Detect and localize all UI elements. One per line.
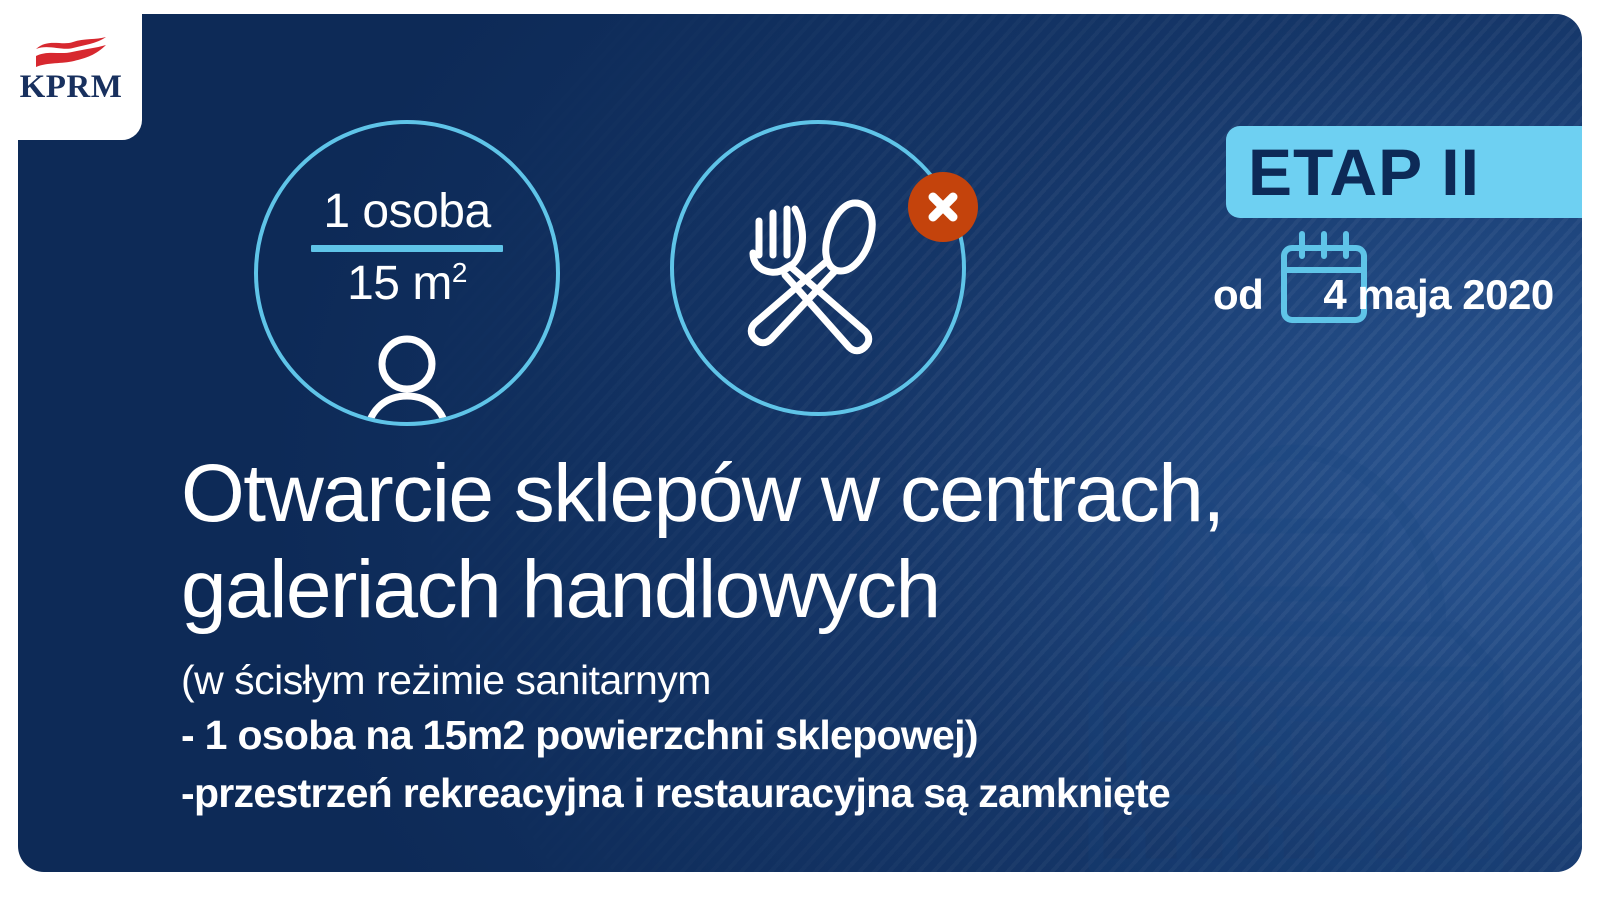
date-value: 4 maja 2020 — [1323, 271, 1553, 318]
text-block: Otwarcie sklepów w centrach, galeriach h… — [181, 446, 1521, 822]
infographic-stage: 1 osoba 15 m2 — [0, 0, 1600, 900]
ratio-stack: 1 osoba 15 m2 — [258, 188, 556, 308]
ratio-numerator: 1 osoba — [323, 188, 490, 238]
occupancy-ratio-circle: 1 osoba 15 m2 — [254, 120, 560, 426]
kprm-logo-panel: KPRM — [0, 0, 142, 140]
detail-line-2: - 1 osoba na 15m2 powierzchni sklepowej) — [181, 706, 1521, 764]
headline-line-1: Otwarcie sklepów w centrach, — [181, 446, 1521, 542]
kprm-logo-wordmark: KPRM — [20, 71, 123, 104]
stage-banner: ETAP II — [1226, 126, 1582, 218]
close-x-badge — [908, 172, 978, 242]
restaurant-closed-circle — [670, 120, 966, 416]
stage-banner-label: ETAP II — [1226, 139, 1480, 205]
fork-and-spoon-icon — [729, 179, 907, 357]
detail-line-1: (w ścisłym reżimie sanitarnym — [181, 654, 1521, 706]
person-icon — [359, 334, 455, 426]
date-label: od4 maja 2020 — [1213, 262, 1573, 328]
ratio-divider — [311, 245, 503, 252]
date-row: od4 maja 2020 — [1213, 262, 1573, 328]
date-prefix: od — [1213, 271, 1263, 318]
detail-line-3: -przestrzeń rekreacyjna i restauracyjna … — [181, 764, 1521, 822]
headline-line-2: galeriach handlowych — [181, 542, 1521, 638]
ratio-denominator: 15 m2 — [258, 260, 556, 308]
close-x-icon — [924, 188, 962, 226]
info-card: 1 osoba 15 m2 — [18, 14, 1582, 872]
polish-flag-emblem-icon — [32, 36, 110, 68]
